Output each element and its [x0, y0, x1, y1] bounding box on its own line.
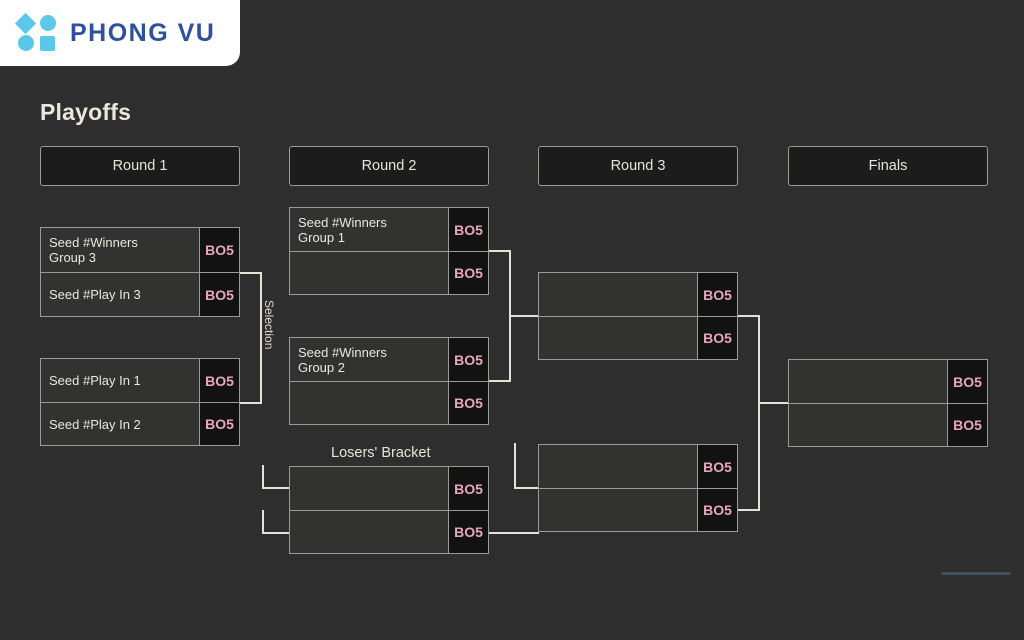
- slot-team-name: Seed #Winners Group 2: [290, 338, 448, 381]
- match-slot[interactable]: Seed #Play In 2 BO5: [41, 402, 239, 445]
- connector-r1m1-out: [240, 272, 262, 274]
- logo-circle-top-right-icon: [40, 15, 56, 31]
- connector-into-finals: [758, 402, 789, 404]
- brand-logo-plate[interactable]: PHONG VU: [0, 0, 240, 66]
- match-slot[interactable]: BO5: [290, 510, 488, 553]
- round-header-round-1[interactable]: Round 1: [40, 146, 240, 186]
- slot-team-name: [290, 252, 448, 294]
- match-round2-1[interactable]: Seed #Winners Group 1 BO5 BO5: [289, 207, 489, 295]
- slot-team-name: [539, 489, 697, 531]
- slot-team-name: [290, 467, 448, 510]
- connector-losers-out-vert: [514, 443, 516, 489]
- connector-r3-merge: [758, 315, 760, 511]
- slot-format-badge: BO5: [448, 252, 488, 294]
- slot-format-badge: BO5: [448, 338, 488, 381]
- slot-team-name: [539, 317, 697, 359]
- match-slot[interactable]: Seed #Play In 3 BO5: [41, 272, 239, 316]
- connector-losers-out-top: [514, 487, 539, 489]
- slot-team-name: [789, 360, 947, 403]
- connector-into-r3m1: [509, 315, 539, 317]
- slot-team-name: [539, 273, 697, 316]
- phongvu-shapes-logo-icon: [18, 14, 58, 52]
- horizontal-scrollbar[interactable]: [941, 572, 1011, 575]
- match-slot[interactable]: BO5: [290, 251, 488, 294]
- slot-team-name: Seed #Play In 2: [41, 403, 199, 445]
- slot-team-name: [539, 445, 697, 488]
- match-round3-2[interactable]: BO5 BO5: [538, 444, 738, 532]
- slot-format-badge: BO5: [697, 445, 737, 488]
- slot-format-badge: BO5: [448, 382, 488, 424]
- match-slot[interactable]: BO5: [789, 403, 987, 446]
- match-slot[interactable]: Seed #Winners Group 1 BO5: [290, 208, 488, 251]
- slot-team-name: Seed #Winners Group 1: [290, 208, 448, 251]
- slot-format-badge: BO5: [199, 403, 239, 445]
- match-slot[interactable]: BO5: [290, 381, 488, 424]
- slot-team-name: [290, 511, 448, 553]
- connector-r1m2-out: [240, 402, 262, 404]
- match-slot[interactable]: BO5: [789, 360, 987, 403]
- connector-losers-in-top-vert: [262, 465, 264, 489]
- connector-r3m2-out: [738, 509, 760, 511]
- slot-format-badge: BO5: [947, 360, 987, 403]
- connector-r3m1-out: [738, 315, 760, 317]
- match-round2-losers[interactable]: BO5 BO5: [289, 466, 489, 554]
- match-round2-2[interactable]: Seed #Winners Group 2 BO5 BO5: [289, 337, 489, 425]
- match-round1-1[interactable]: Seed #Winners Group 3 BO5 Seed #Play In …: [40, 227, 240, 317]
- slot-team-name: Seed #Play In 3: [41, 273, 199, 316]
- slot-team-name: Seed #Winners Group 3: [41, 228, 199, 272]
- slot-team-name: Seed #Play In 1: [41, 359, 199, 402]
- selection-label: Selection: [262, 300, 276, 349]
- match-slot[interactable]: BO5: [539, 445, 737, 488]
- match-finals[interactable]: BO5 BO5: [788, 359, 988, 447]
- brand-name: PHONG VU: [70, 19, 215, 48]
- round-header-finals[interactable]: Finals: [788, 146, 988, 186]
- connector-r2m2-out: [489, 380, 511, 382]
- match-slot[interactable]: Seed #Winners Group 2 BO5: [290, 338, 488, 381]
- slot-format-badge: BO5: [697, 317, 737, 359]
- logo-diamond-icon: [15, 13, 36, 34]
- slot-format-badge: BO5: [947, 404, 987, 446]
- logo-circle-bottom-left-icon: [18, 35, 34, 51]
- match-slot[interactable]: Seed #Play In 1 BO5: [41, 359, 239, 402]
- slot-format-badge: BO5: [448, 208, 488, 251]
- match-round3-1[interactable]: BO5 BO5: [538, 272, 738, 360]
- slot-format-badge: BO5: [448, 467, 488, 510]
- connector-losers-out-bottom: [489, 532, 539, 534]
- match-slot[interactable]: BO5: [539, 316, 737, 359]
- round-header-round-3[interactable]: Round 3: [538, 146, 738, 186]
- slot-format-badge: BO5: [199, 228, 239, 272]
- losers-bracket-label: Losers' Bracket: [331, 445, 430, 461]
- match-slot[interactable]: Seed #Winners Group 3 BO5: [41, 228, 239, 272]
- connector-losers-in-bottom-horiz: [262, 532, 290, 534]
- slot-format-badge: BO5: [199, 359, 239, 402]
- slot-format-badge: BO5: [697, 273, 737, 316]
- connector-losers-in-top-horiz: [262, 487, 290, 489]
- match-slot[interactable]: BO5: [290, 467, 488, 510]
- match-slot[interactable]: BO5: [539, 273, 737, 316]
- slot-format-badge: BO5: [448, 511, 488, 553]
- playoffs-bracket-page: PHONG VU Playoffs Round 1 Round 2 Round …: [0, 0, 1024, 640]
- match-round1-2[interactable]: Seed #Play In 1 BO5 Seed #Play In 2 BO5: [40, 358, 240, 446]
- connector-losers-in-bottom-vert: [262, 510, 264, 534]
- page-title: Playoffs: [40, 99, 131, 126]
- round-header-round-2[interactable]: Round 2: [289, 146, 489, 186]
- slot-team-name: [789, 404, 947, 446]
- match-slot[interactable]: BO5: [539, 488, 737, 531]
- slot-team-name: [290, 382, 448, 424]
- logo-square-bottom-right-icon: [40, 36, 55, 51]
- connector-r2m1-out: [489, 250, 511, 252]
- slot-format-badge: BO5: [697, 489, 737, 531]
- slot-format-badge: BO5: [199, 273, 239, 316]
